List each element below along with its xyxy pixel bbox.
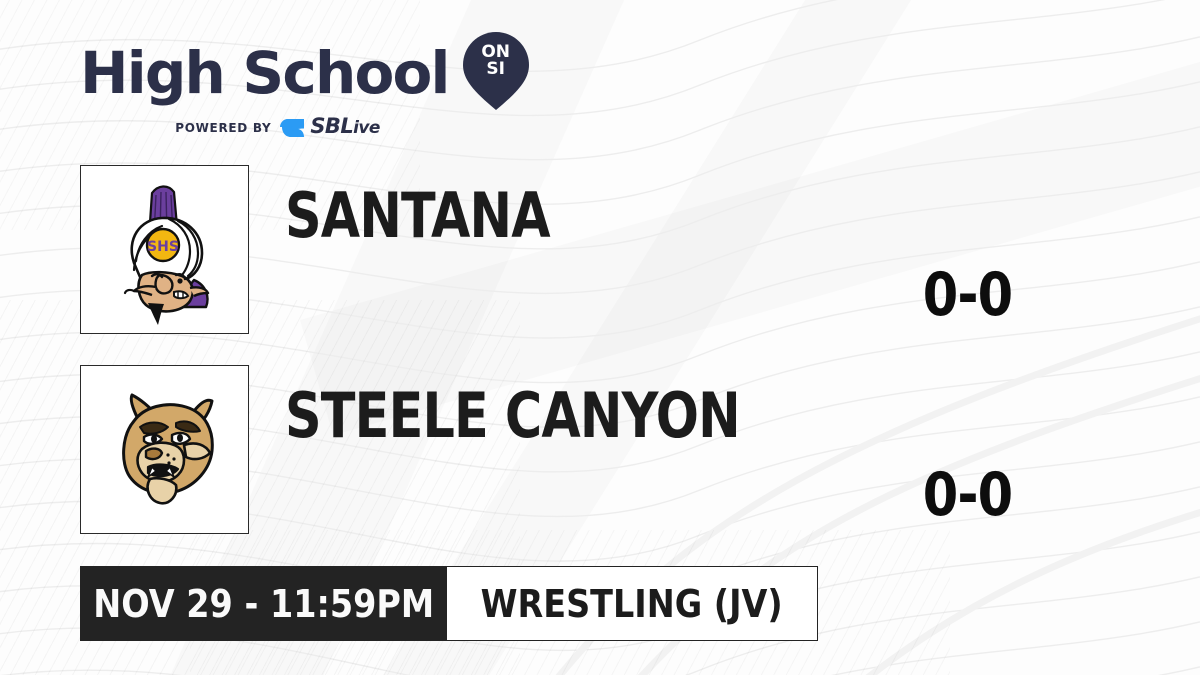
sblive-lightning-icon	[280, 118, 306, 138]
powered-by-row: POWERED BY SBLive	[80, 116, 475, 139]
powered-by-label: POWERED BY	[175, 121, 271, 135]
team-logo-box: SHS	[80, 165, 249, 334]
game-datetime-text: NOV 29 - 11:59PM	[93, 585, 434, 623]
team-row: STEELE CANYON 0-0	[80, 365, 1120, 535]
sport-badge: WRESTLING (JV)	[447, 566, 818, 641]
team-logo-box	[80, 365, 249, 534]
team-record: 0-0	[893, 265, 1042, 325]
team-row: SHS	[80, 165, 1120, 335]
pin-label: ON SI	[461, 44, 531, 78]
brand-title-row: High School ON SI	[80, 34, 510, 112]
steele-canyon-cougars-logo	[90, 375, 240, 525]
team-name: STEELE CANYON	[285, 381, 740, 451]
team-record: 0-0	[893, 465, 1042, 525]
matchup-graphic: High School ON SI POWERED BY SBLive	[0, 0, 1200, 675]
sblive-logo: SBLive	[280, 116, 379, 139]
brand-header: High School ON SI POWERED BY SBLive	[80, 34, 510, 139]
sblive-word-suffix: ive	[353, 118, 380, 138]
sblive-word-main: SBL	[310, 114, 353, 138]
team-name: SANTANA	[285, 181, 550, 251]
medallion-text: SHS	[147, 239, 179, 255]
santana-sultans-logo: SHS	[90, 175, 240, 325]
location-pin-icon: ON SI	[461, 30, 531, 112]
page-title: High School	[80, 44, 449, 102]
sport-text: WRESTLING (JV)	[481, 585, 783, 623]
footer-bar: NOV 29 - 11:59PM WRESTLING (JV)	[80, 566, 818, 641]
pin-label-si: SI	[461, 61, 531, 78]
sblive-wordmark: SBLive	[310, 116, 379, 139]
game-datetime-badge: NOV 29 - 11:59PM	[80, 566, 447, 641]
